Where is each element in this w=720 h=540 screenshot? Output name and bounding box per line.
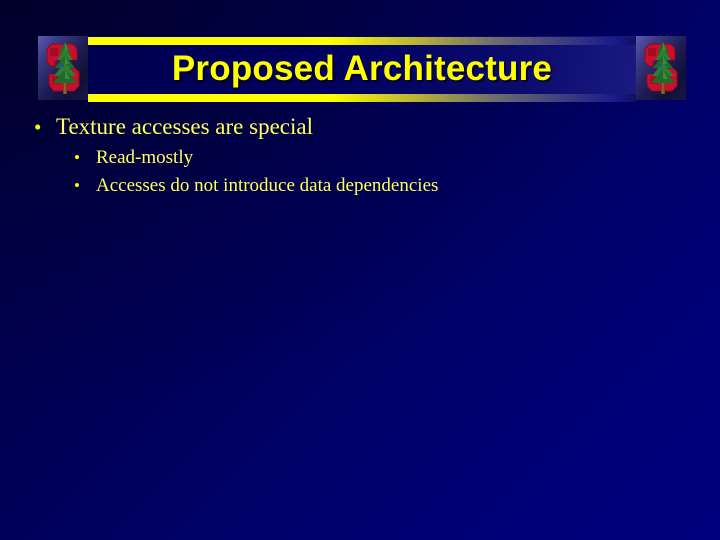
stanford-tree-logo-left <box>38 36 88 100</box>
stanford-tree-logo-icon <box>636 36 686 100</box>
title-accent-bar-top <box>88 37 636 45</box>
stanford-tree-logo-icon <box>38 36 88 100</box>
bullet-text: Read-mostly <box>96 144 193 171</box>
bullet-text: Accesses do not introduce data dependenc… <box>96 172 438 199</box>
slide-title-block: Proposed Architecture <box>88 36 636 102</box>
slide-body: • Texture accesses are special • Read-mo… <box>0 112 720 200</box>
bullet-marker-icon: • <box>74 172 96 199</box>
stanford-tree-logo-right <box>636 36 686 100</box>
bullet-item-level2: • Accesses do not introduce data depende… <box>0 172 720 199</box>
bullet-marker-icon: • <box>34 112 56 142</box>
bullet-item-level2: • Read-mostly <box>0 144 720 171</box>
title-accent-bar-bottom <box>88 94 636 102</box>
bullet-marker-icon: • <box>74 144 96 171</box>
bullet-text: Texture accesses are special <box>56 112 313 142</box>
page-title: Proposed Architecture <box>88 45 636 93</box>
bullet-item-level1: • Texture accesses are special <box>0 112 720 142</box>
presentation-slide: Proposed Architecture • Texture accesses… <box>0 0 720 540</box>
